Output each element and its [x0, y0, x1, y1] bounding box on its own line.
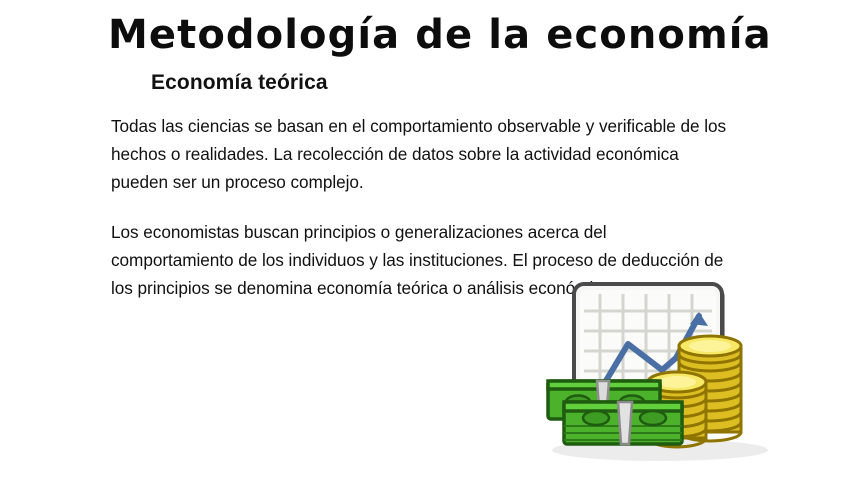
- banknote-bundle-front: [564, 402, 682, 444]
- slide-subtitle: Economía teórica: [151, 70, 328, 96]
- page-title: Metodología de la economía: [108, 12, 748, 58]
- banknote-band-front: [618, 402, 632, 444]
- body-paragraph-1: Todas las ciencias se basan en el compor…: [111, 112, 729, 196]
- body-text-block: Todas las ciencias se basan en el compor…: [111, 112, 729, 302]
- slide-canvas: Metodología de la economía Economía teór…: [0, 0, 848, 477]
- economy-finance-clipart: [540, 278, 780, 463]
